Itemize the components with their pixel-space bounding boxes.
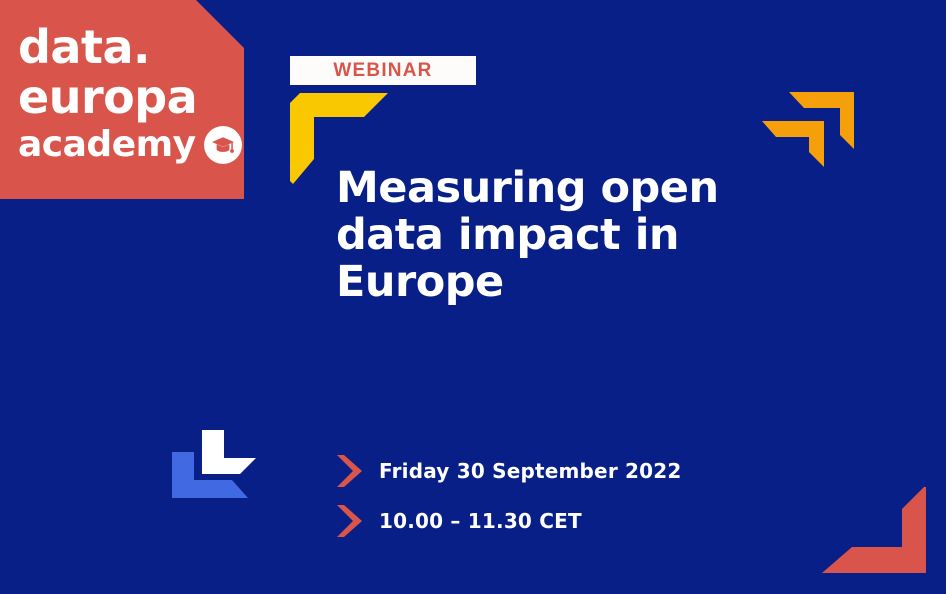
chevron-right-icon	[335, 455, 365, 487]
page-title: Measuring open data impact in Europe	[336, 165, 766, 306]
graduation-cap-icon	[204, 126, 242, 164]
blue-white-corner-shape	[172, 430, 256, 498]
webinar-badge-label: WEBINAR	[333, 60, 432, 82]
logo-line-academy: academy	[18, 127, 196, 163]
event-details: Friday 30 September 2022 10.00 – 11.30 C…	[335, 446, 682, 546]
event-date: Friday 30 September 2022	[379, 459, 682, 483]
data-europa-academy-logo: data. europa academy	[18, 24, 232, 176]
logo-line-academy-row: academy	[18, 126, 232, 164]
event-date-row: Friday 30 September 2022	[335, 446, 682, 496]
orange-double-arrow-shape	[762, 92, 854, 167]
webinar-badge: WEBINAR	[290, 56, 476, 85]
event-time-row: 10.00 – 11.30 CET	[335, 496, 682, 546]
logo-line-data: data.	[18, 24, 232, 70]
webinar-promo-banner: data. europa academy WEBINAR Measuring o…	[0, 0, 946, 594]
red-corner-shape	[822, 487, 946, 594]
logo-line-europa: europa	[18, 74, 232, 120]
event-time: 10.00 – 11.30 CET	[379, 509, 582, 533]
chevron-right-icon	[335, 505, 365, 537]
